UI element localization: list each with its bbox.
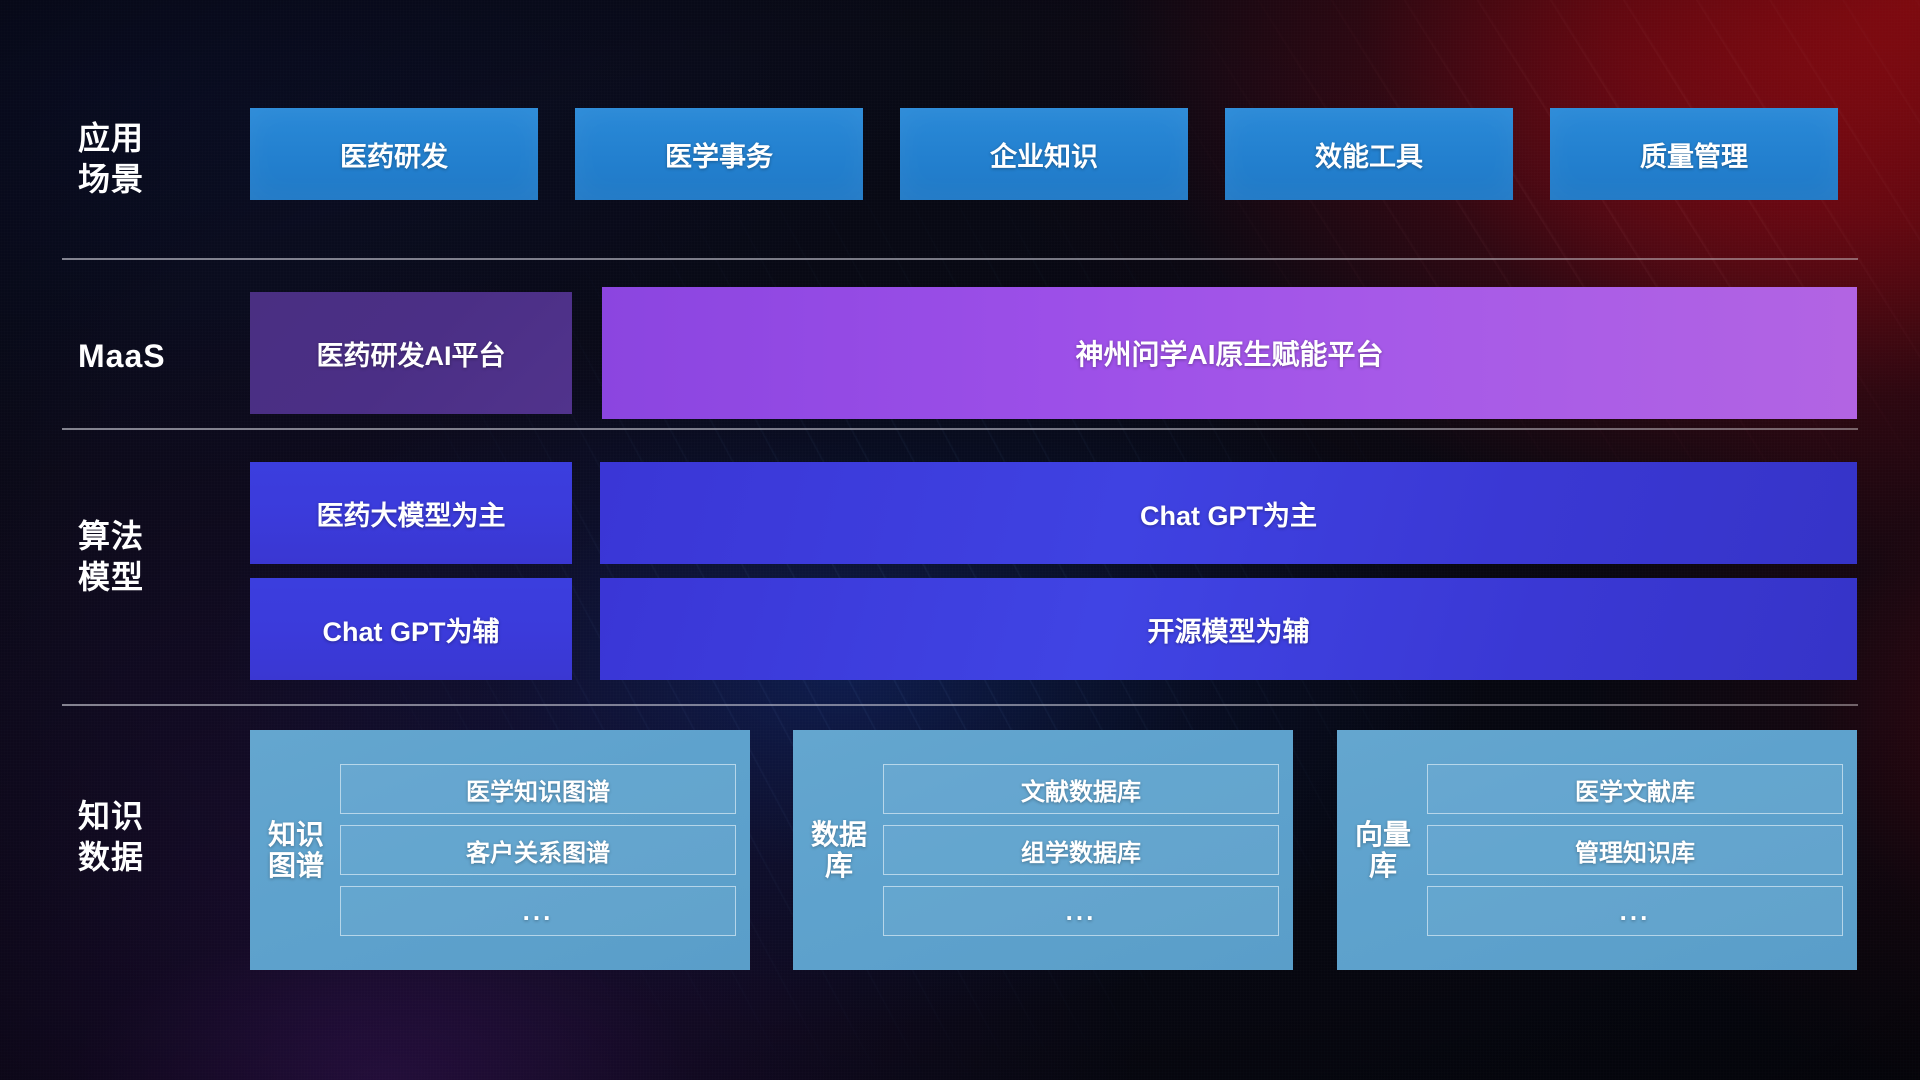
knowledge-group-database-label: 数据库 [803, 819, 875, 882]
app-box-drug-rd-label: 医药研发 [340, 135, 448, 174]
list-item-more[interactable]: ... [340, 886, 736, 936]
list-item-more[interactable]: ... [883, 886, 1279, 936]
app-box-efficiency-tools-label: 效能工具 [1315, 135, 1423, 174]
list-item-more-label: ... [523, 896, 554, 927]
divider-after-algorithm-row [62, 704, 1858, 706]
list-item[interactable]: 组学数据库 [883, 825, 1279, 875]
knowledge-group-knowledge-graph-items: 医学知识图谱 客户关系图谱 ... [332, 764, 736, 936]
row-label-knowledge-data: 知识 数据 [78, 796, 228, 878]
maas-box-shenzhou-wenxue-platform[interactable]: 神州问学AI原生赋能平台 [602, 287, 1857, 419]
app-box-enterprise-knowledge-label: 企业知识 [990, 135, 1098, 174]
list-item-label: 管理知识库 [1575, 833, 1695, 868]
algo-box-chatgpt-primary[interactable]: Chat GPT为主 [600, 462, 1857, 564]
list-item[interactable]: 医学文献库 [1427, 764, 1843, 814]
architecture-diagram-slide: 应用 场景 医药研发 医学事务 企业知识 效能工具 质量管理 MaaS 医药研发… [0, 0, 1920, 1080]
maas-box-drug-rd-ai-platform-label: 医药研发AI平台 [317, 334, 506, 373]
list-item-label: 组学数据库 [1021, 833, 1141, 868]
algo-box-pharma-large-model-primary[interactable]: 医药大模型为主 [250, 462, 572, 564]
list-item-label: 医学知识图谱 [466, 772, 610, 807]
list-item-label: 医学文献库 [1575, 772, 1695, 807]
knowledge-group-vector-database[interactable]: 向量库 医学文献库 管理知识库 ... [1337, 730, 1857, 970]
list-item[interactable]: 客户关系图谱 [340, 825, 736, 875]
algo-box-opensource-model-secondary-label: 开源模型为辅 [1148, 610, 1310, 649]
row-label-application-scenario: 应用 场景 [78, 118, 228, 200]
knowledge-group-database[interactable]: 数据库 文献数据库 组学数据库 ... [793, 730, 1293, 970]
knowledge-group-vector-database-label: 向量库 [1347, 819, 1419, 882]
algo-box-pharma-large-model-primary-label: 医药大模型为主 [317, 494, 506, 533]
divider-after-application-row [62, 258, 1858, 260]
algo-box-chatgpt-secondary-label: Chat GPT为辅 [322, 610, 499, 649]
list-item-label: 文献数据库 [1021, 772, 1141, 807]
row-label-algorithm-model: 算法 模型 [78, 516, 228, 598]
row-label-maas: MaaS [78, 336, 228, 377]
app-box-quality-management-label: 质量管理 [1640, 135, 1748, 174]
app-box-medical-affairs-label: 医学事务 [665, 135, 773, 174]
algo-box-chatgpt-secondary[interactable]: Chat GPT为辅 [250, 578, 572, 680]
app-box-efficiency-tools[interactable]: 效能工具 [1225, 108, 1513, 200]
list-item-more[interactable]: ... [1427, 886, 1843, 936]
list-item-label: 客户关系图谱 [466, 833, 610, 868]
list-item-more-label: ... [1066, 896, 1097, 927]
list-item-more-label: ... [1620, 896, 1651, 927]
list-item[interactable]: 文献数据库 [883, 764, 1279, 814]
knowledge-group-knowledge-graph[interactable]: 知识图谱 医学知识图谱 客户关系图谱 ... [250, 730, 750, 970]
algo-box-opensource-model-secondary[interactable]: 开源模型为辅 [600, 578, 1857, 680]
algo-box-chatgpt-primary-label: Chat GPT为主 [1140, 494, 1317, 533]
knowledge-group-knowledge-graph-label: 知识图谱 [260, 819, 332, 882]
maas-box-drug-rd-ai-platform[interactable]: 医药研发AI平台 [250, 292, 572, 414]
app-box-drug-rd[interactable]: 医药研发 [250, 108, 538, 200]
list-item[interactable]: 管理知识库 [1427, 825, 1843, 875]
app-box-enterprise-knowledge[interactable]: 企业知识 [900, 108, 1188, 200]
maas-box-shenzhou-wenxue-platform-label: 神州问学AI原生赋能平台 [1075, 333, 1383, 373]
knowledge-group-database-items: 文献数据库 组学数据库 ... [875, 764, 1279, 936]
app-box-medical-affairs[interactable]: 医学事务 [575, 108, 863, 200]
list-item[interactable]: 医学知识图谱 [340, 764, 736, 814]
app-box-quality-management[interactable]: 质量管理 [1550, 108, 1838, 200]
knowledge-group-vector-database-items: 医学文献库 管理知识库 ... [1419, 764, 1843, 936]
divider-after-maas-row [62, 428, 1858, 430]
